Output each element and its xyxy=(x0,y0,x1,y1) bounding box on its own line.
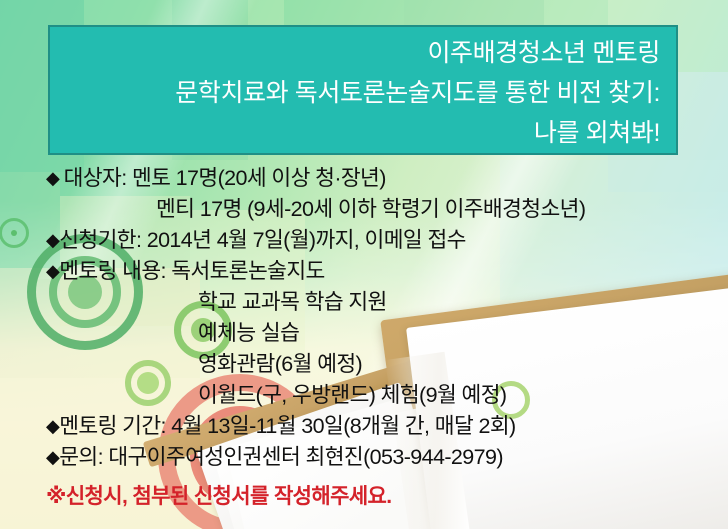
body-text-block: ◆ 대상자: 멘토 17명(20세 이상 청·장년)멘티 17명 (9세-20세… xyxy=(46,163,726,473)
body-line-9: ◆멘토링 기간: 4월 13일-11월 30일(8개월 간, 매달 2회) xyxy=(46,411,726,442)
diamond-bullet-icon: ◆ xyxy=(46,261,59,281)
diamond-bullet-icon: ◆ xyxy=(46,168,64,188)
body-line-text: 영화관람(6월 예정) xyxy=(198,352,362,376)
poster-canvas: 이주배경청소년 멘토링 문학치료와 독서토론논술지도를 통한 비전 찾기: 나를… xyxy=(0,0,728,529)
body-line-6: 예체능 실습 xyxy=(46,318,726,349)
title-line-1: 이주배경청소년 멘토링 xyxy=(50,33,660,73)
diamond-bullet-icon: ◆ xyxy=(46,416,59,436)
body-line-text: 대상자: 멘토 17명(20세 이상 청·장년) xyxy=(64,166,386,190)
body-line-8: 이월드(구, 우방랜드) 체험(9월 예정) xyxy=(46,380,726,411)
notice-text: ※신청시, 첨부된 신청서를 작성해주세요. xyxy=(46,483,392,511)
bg-tile-6 xyxy=(404,0,544,26)
body-line-text: 문의: 대구이주여성인권센터 최현진(053-944-2979) xyxy=(59,445,503,469)
body-line-3: ◆신청기한: 2014년 4월 7일(월)까지, 이메일 접수 xyxy=(46,225,726,256)
body-line-4: ◆멘토링 내용: 독서토론논술지도 xyxy=(46,256,726,287)
body-line-5: 학교 교과목 학습 지원 xyxy=(46,287,726,318)
body-line-10: ◆문의: 대구이주여성인권센터 최현진(053-944-2979) xyxy=(46,442,726,473)
body-line-text: 학교 교과목 학습 지원 xyxy=(198,290,387,314)
body-line-text: 멘토링 내용: 독서토론논술지도 xyxy=(59,259,324,283)
body-line-text: 멘티 17명 (9세-20세 이하 학령기 이주배경청소년) xyxy=(156,197,585,221)
body-line-text: 멘토링 기간: 4월 13일-11월 30일(8개월 간, 매달 2회) xyxy=(59,414,515,438)
title-box: 이주배경청소년 멘토링 문학치료와 독서토론논술지도를 통한 비전 찾기: 나를… xyxy=(48,25,678,155)
diamond-bullet-icon: ◆ xyxy=(46,230,59,250)
diamond-bullet-icon: ◆ xyxy=(46,447,59,467)
body-line-1: ◆ 대상자: 멘토 17명(20세 이상 청·장년) xyxy=(46,163,726,194)
body-line-2: 멘티 17명 (9세-20세 이하 학령기 이주배경청소년) xyxy=(46,194,726,225)
body-line-text: 이월드(구, 우방랜드) 체험(9월 예정) xyxy=(198,383,506,407)
body-line-text: 신청기한: 2014년 4월 7일(월)까지, 이메일 접수 xyxy=(59,228,466,252)
title-line-2: 문학치료와 독서토론논술지도를 통한 비전 찾기: xyxy=(50,73,660,113)
body-line-7: 영화관람(6월 예정) xyxy=(46,349,726,380)
body-line-text: 예체능 실습 xyxy=(198,321,299,345)
ring-motif-small-left-dot xyxy=(11,230,17,236)
title-line-3: 나를 외쳐봐! xyxy=(50,113,660,153)
